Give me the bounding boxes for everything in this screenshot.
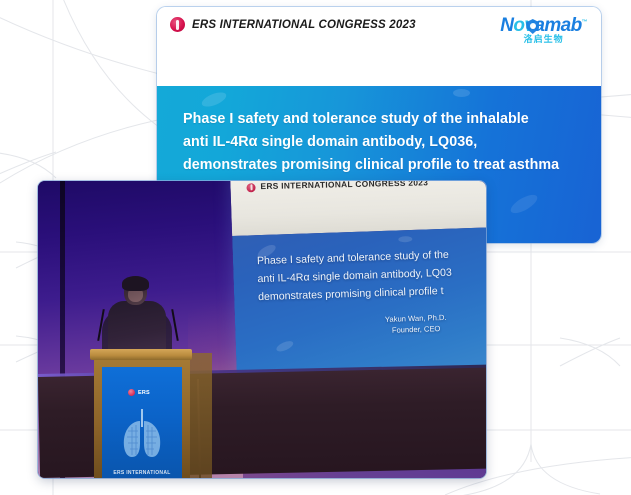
novamab-trademark: ™: [582, 20, 587, 26]
slide-card-header: ERS INTERNATIONAL CONGRESS 2023 Novamab™…: [157, 7, 601, 86]
novamab-logo-icon: Novamab™ 洛启生物: [500, 16, 587, 45]
lectern-branding-screen: ERS ERS INTERNATIONAL: [102, 367, 182, 478]
ers-circle-logo-icon: [170, 17, 185, 32]
projected-slide-title: Phase I safety and tolerance study of th…: [257, 244, 486, 306]
lectern-top: [90, 349, 192, 360]
novamab-wordmark: Novamab™: [500, 16, 587, 35]
projection-screen-header: ERS INTERNATIONAL CONGRESS 2023: [230, 181, 486, 236]
lectern-ers-brand: ERS: [128, 389, 150, 396]
novamab-chinese-name: 洛启生物: [500, 36, 587, 45]
ers-circle-logo-icon: [246, 183, 255, 192]
ers-congress-label: ERS INTERNATIONAL CONGRESS 2023: [192, 19, 416, 31]
projected-ers-brand: ERS INTERNATIONAL CONGRESS 2023: [246, 181, 428, 192]
slide-title: Phase I safety and tolerance study of th…: [183, 108, 575, 177]
lectern-ers-label: ERS: [138, 390, 150, 396]
decorative-bubble: [398, 236, 412, 242]
slide-title-line-3: demonstrates promising clinical profile …: [183, 154, 575, 177]
slide-title-line-1: Phase I safety and tolerance study of th…: [183, 108, 575, 131]
ers-brand: ERS INTERNATIONAL CONGRESS 2023: [170, 17, 416, 32]
slide-title-line-2: anti IL-4Rα single domain antibody, LQ03…: [183, 131, 575, 154]
novamab-name-part1: N: [500, 15, 513, 36]
novamab-name-part2: amab: [534, 15, 581, 36]
decorative-bubble: [508, 191, 540, 216]
presenter-role: Founder, CEO: [385, 323, 447, 336]
conference-presentation-photo: ERS INTERNATIONAL CONGRESS 2023 Phase I …: [38, 181, 486, 478]
decorative-bubble: [275, 339, 295, 354]
projected-presenter-block: Yakun Wan, Ph.D. Founder, CEO: [385, 312, 447, 336]
decorative-bubble: [453, 89, 470, 97]
lungs-graphic-icon: [116, 407, 168, 459]
decorative-bubble: [200, 90, 228, 110]
projection-screen: ERS INTERNATIONAL CONGRESS 2023 Phase I …: [230, 181, 486, 377]
projected-congress-label: ERS INTERNATIONAL CONGRESS 2023: [260, 181, 428, 191]
speaker-hair: [122, 276, 149, 291]
lectern-caption: ERS INTERNATIONAL: [102, 470, 182, 476]
ers-circle-logo-icon: [128, 389, 135, 396]
